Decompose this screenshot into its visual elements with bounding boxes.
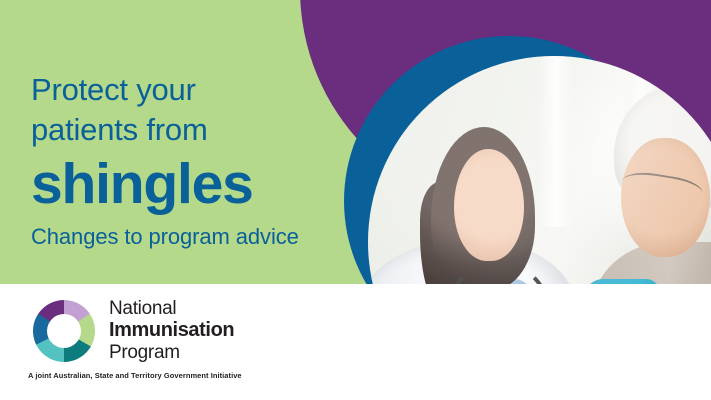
headline-block: Protect your patients from shingles Chan… <box>31 70 361 252</box>
logo-line-program: Program <box>109 342 234 364</box>
headline-line-2: patients from <box>31 110 361 150</box>
shingles-awareness-banner: Protect your patients from shingles Chan… <box>0 0 711 400</box>
headline-emphasis: shingles <box>31 152 361 216</box>
logo-line-immunisation: Immunisation <box>109 319 234 342</box>
immunisation-ring-icon <box>33 300 95 362</box>
headline-subtitle: Changes to program advice <box>31 222 361 252</box>
logo-line-national: National <box>109 298 234 319</box>
logo-tagline: A joint Australian, State and Territory … <box>28 371 242 381</box>
logo-wordmark: National Immunisation Program <box>109 298 234 364</box>
national-immunisation-program-logo: National Immunisation Program <box>33 298 234 364</box>
headline-line-1: Protect your <box>31 70 361 110</box>
